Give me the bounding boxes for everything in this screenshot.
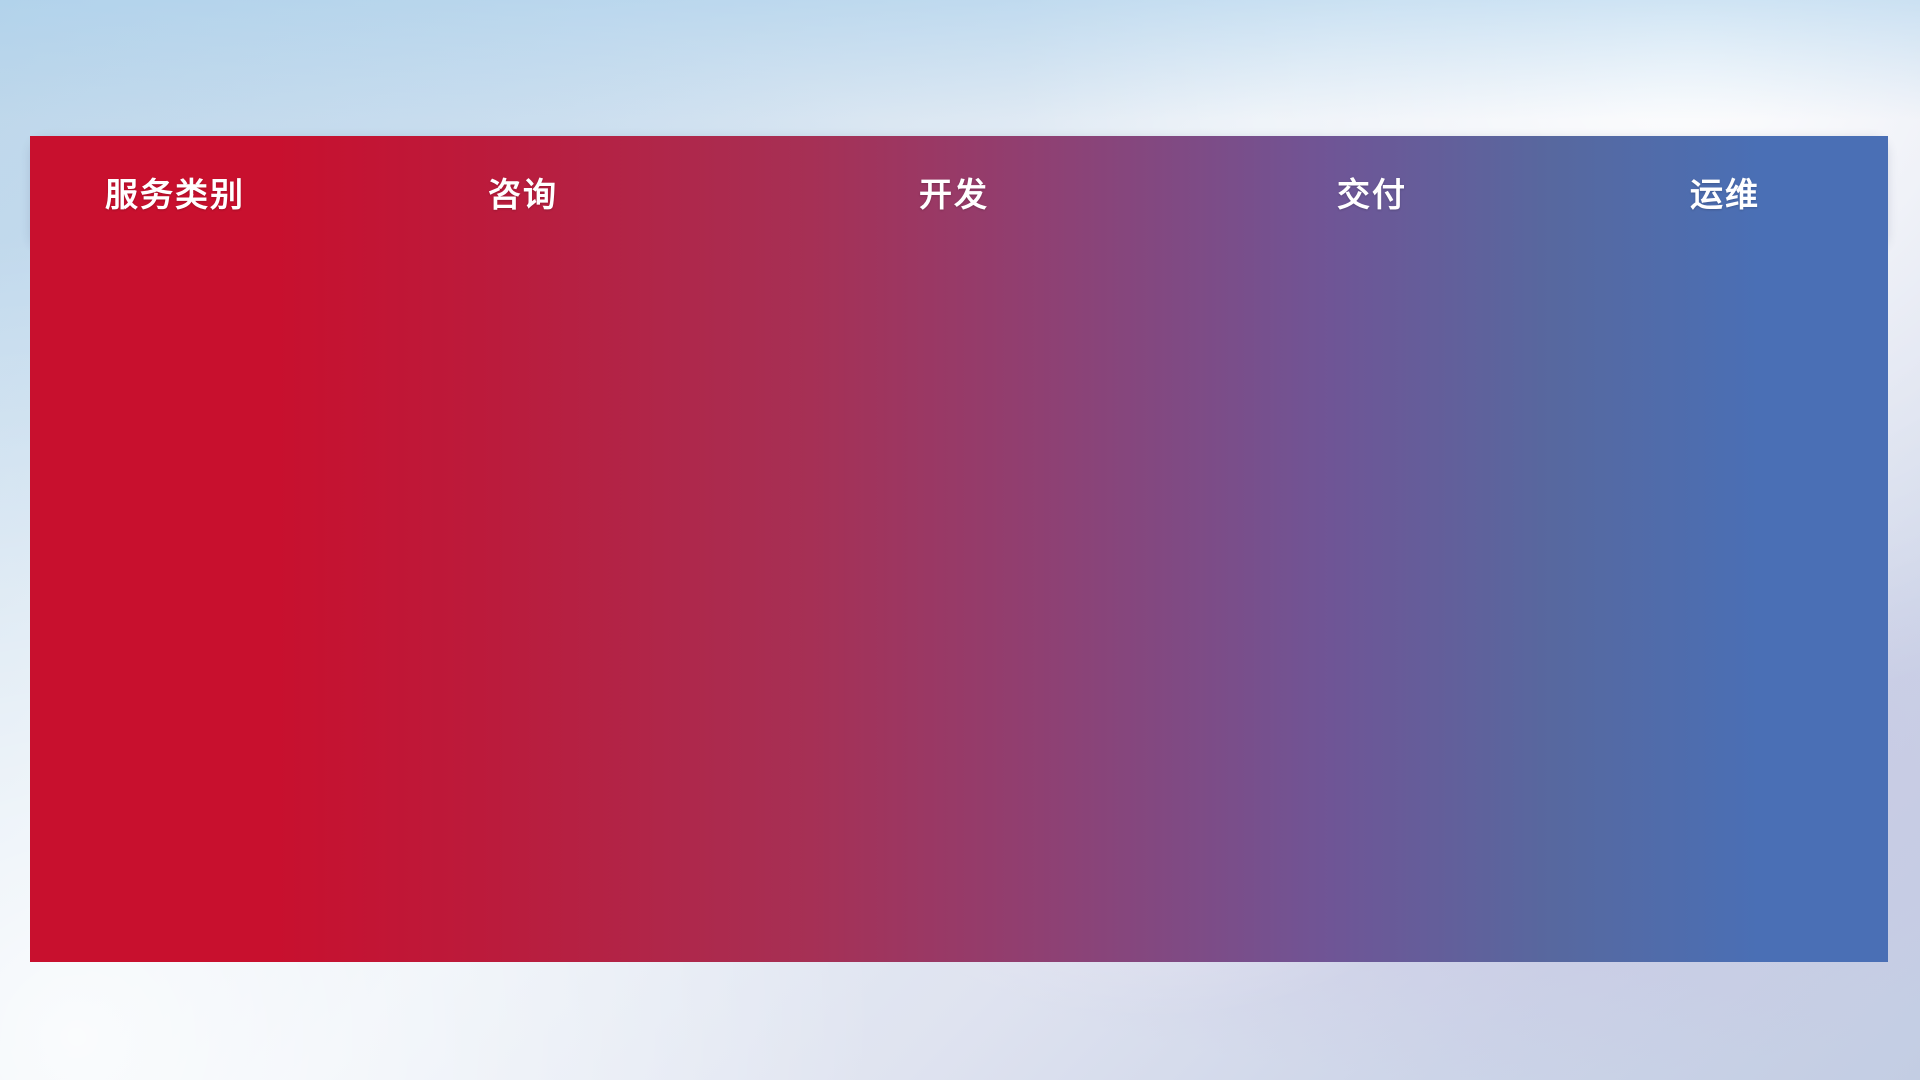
column-header-development: 开发 bbox=[726, 136, 1182, 248]
column-header-service-category: 服务类别 bbox=[30, 136, 320, 248]
column-header-label: 服务类别 bbox=[105, 168, 245, 216]
column-header-delivery: 交付 bbox=[1182, 136, 1562, 248]
background-top-sheen bbox=[0, 0, 1920, 120]
column-header-label: 运维 bbox=[1690, 168, 1760, 216]
column-header-label: 交付 bbox=[1337, 168, 1407, 216]
column-header-operations: 运维 bbox=[1562, 136, 1888, 248]
column-header-label: 开发 bbox=[919, 168, 989, 216]
service-matrix-table: 服务类别 咨询 开发 交付 运维 业务协同 平台建设 企业级业务协同平台及协同系… bbox=[30, 136, 1888, 962]
column-header-label: 咨询 bbox=[488, 168, 558, 216]
column-header-consulting: 咨询 bbox=[320, 136, 726, 248]
table-header-row: 服务类别 咨询 开发 交付 运维 bbox=[30, 136, 1888, 248]
